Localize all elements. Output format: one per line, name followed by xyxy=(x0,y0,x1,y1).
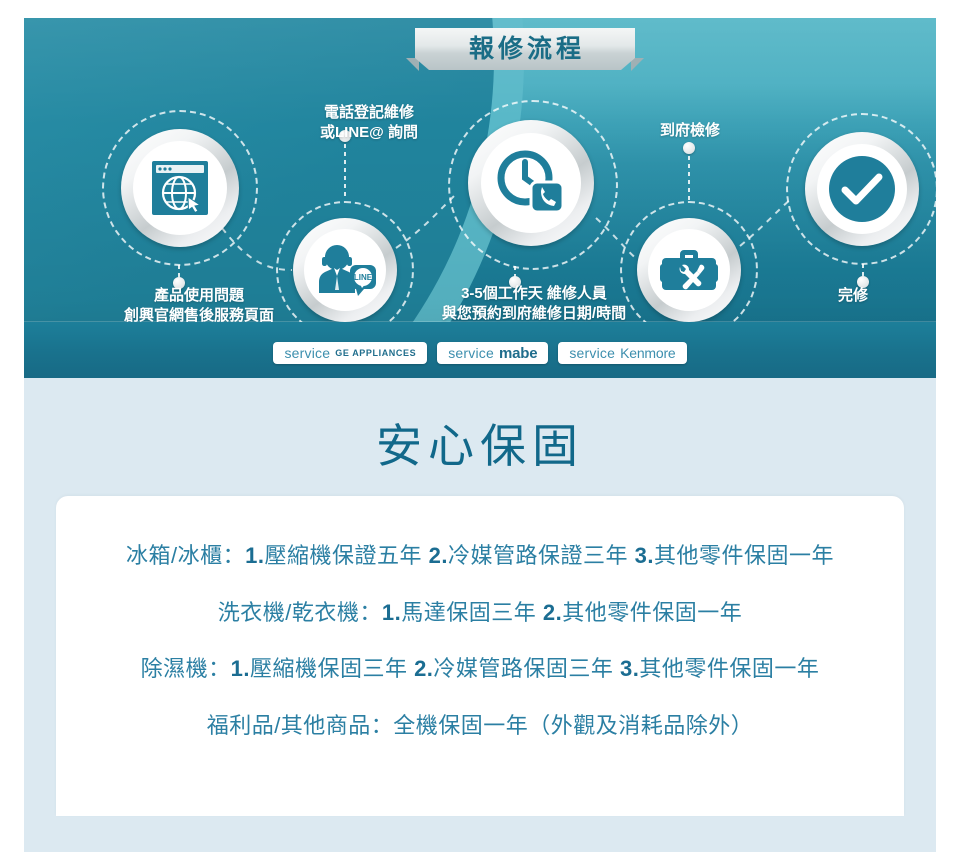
caption-line-1: 3-5個工作天 維修人員 xyxy=(422,284,646,304)
step-node-complete[interactable] xyxy=(786,113,936,265)
node-inner xyxy=(817,144,907,234)
browser-globe-icon xyxy=(150,159,210,217)
caption-line-1: 產品使用問題 xyxy=(84,286,314,306)
ribbon-body: 報修流程 xyxy=(415,28,635,70)
node-inner xyxy=(481,133,581,233)
warranty-line: 福利品/其他商品：全機保固一年（外觀及消耗品除外） xyxy=(56,698,904,755)
badge-ge-appliances[interactable]: service GE APPLIANCES xyxy=(273,342,427,364)
caption-line-2: 或LINE@ 詢問 xyxy=(279,123,459,143)
infographic-page: LINE xyxy=(0,0,960,852)
process-title-text: 報修流程 xyxy=(465,37,585,62)
check-circle-icon xyxy=(825,152,899,226)
caption-line-1: 到府檢修 xyxy=(610,121,770,141)
badge-brand-label: Kenmore xyxy=(620,345,675,361)
node-inner xyxy=(648,229,730,311)
leader-knob-4 xyxy=(683,142,695,154)
leader-line-2 xyxy=(344,136,346,198)
warranty-line: 除濕機：1.壓縮機保固三年 2.冷媒管路保固三年 3.其他零件保固一年 xyxy=(56,641,904,698)
warranty-footer-strip xyxy=(24,830,936,852)
step-caption-complete: 完修 xyxy=(788,286,918,306)
badge-brand-label: GE APPLIANCES xyxy=(335,348,416,358)
repair-process-panel: LINE xyxy=(24,18,936,378)
warranty-line-list: 冰箱/冰櫃：1.壓縮機保證五年 2.冷媒管路保證三年 3.其他零件保固一年 洗衣… xyxy=(56,528,904,754)
badge-mabe[interactable]: service mabe xyxy=(437,342,548,364)
caption-line-1: 完修 xyxy=(788,286,918,306)
step-node-schedule[interactable] xyxy=(448,100,618,270)
step-caption-onsite: 到府檢修 xyxy=(610,121,770,141)
badge-service-label: service xyxy=(284,345,330,361)
step-caption-schedule: 3-5個工作天 維修人員 與您預約到府維修日期/時間 xyxy=(422,284,646,325)
warranty-line: 洗衣機/乾衣機：1.馬達保固三年 2.其他零件保固一年 xyxy=(56,585,904,642)
svg-text:LINE: LINE xyxy=(354,273,373,282)
warranty-title: 安心保固 xyxy=(24,410,936,476)
node-inner xyxy=(133,141,227,235)
badge-kenmore[interactable]: service Kenmore xyxy=(558,342,686,364)
warranty-section: 安心保固 冰箱/冰櫃：1.壓縮機保證五年 2.冷媒管路保證三年 3.其他零件保固… xyxy=(24,378,936,830)
toolbox-tools-icon xyxy=(660,245,718,295)
process-title-ribbon: 報修流程 xyxy=(415,28,635,70)
badge-brand-label: mabe xyxy=(499,345,537,362)
leader-line-4 xyxy=(688,148,690,200)
clock-phone-icon xyxy=(497,150,565,216)
step-node-website[interactable] xyxy=(102,110,258,266)
brand-badges: service GE APPLIANCES service mabe servi… xyxy=(24,342,936,364)
step-caption-contact: 電話登記維修 或LINE@ 詢問 xyxy=(279,103,459,144)
warranty-card: 冰箱/冰櫃：1.壓縮機保證五年 2.冷媒管路保證三年 3.其他零件保固一年 洗衣… xyxy=(56,496,904,816)
node-inner: LINE xyxy=(304,229,386,311)
caption-line-1: 電話登記維修 xyxy=(279,103,459,123)
badge-service-label: service xyxy=(569,345,615,361)
warranty-line: 冰箱/冰櫃：1.壓縮機保證五年 2.冷媒管路保證三年 3.其他零件保固一年 xyxy=(56,528,904,585)
operator-line-chat-icon: LINE xyxy=(314,243,376,297)
badge-service-label: service xyxy=(448,345,494,361)
